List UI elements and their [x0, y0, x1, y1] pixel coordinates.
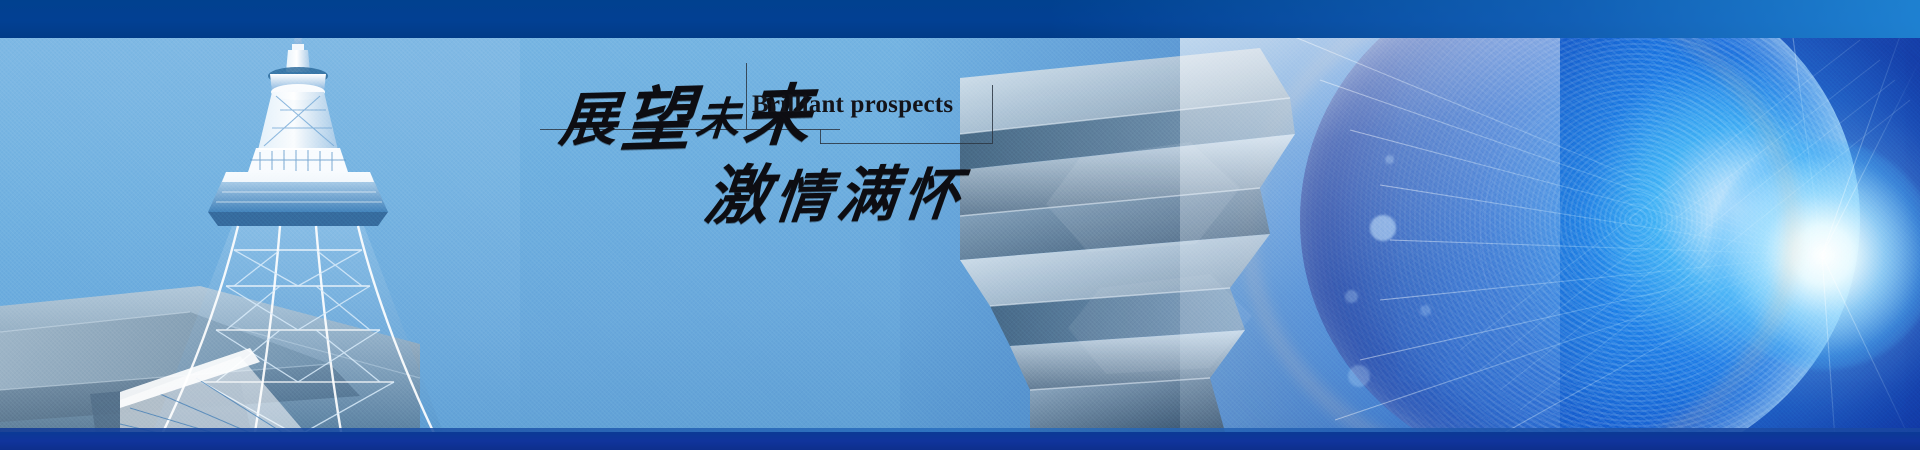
headline-char-3: 未	[694, 95, 746, 145]
top-bar	[0, 0, 1920, 38]
bottom-bar	[0, 432, 1920, 450]
headline-block: 展望未来 Brilliant prospects 激情满怀	[520, 55, 1040, 235]
divider-vertical-right	[992, 85, 993, 144]
white-overlay-panel	[1180, 38, 1560, 432]
top-bar-sheen	[1050, 0, 1920, 38]
subline-char-2: 情	[772, 167, 841, 230]
subline-char-1: 激	[701, 160, 779, 232]
headline-char-2: 望	[618, 82, 698, 161]
subline-char-4: 怀	[900, 165, 969, 228]
subline-char-3: 满	[834, 162, 907, 229]
subline-chinese: 激情满怀	[701, 141, 971, 238]
divider-step-vertical	[820, 129, 821, 144]
promo-banner: 展望未来 Brilliant prospects 激情满怀	[0, 0, 1920, 450]
headline-english: Brilliant prospects	[752, 91, 953, 119]
headline-char-1: 展	[557, 87, 624, 154]
